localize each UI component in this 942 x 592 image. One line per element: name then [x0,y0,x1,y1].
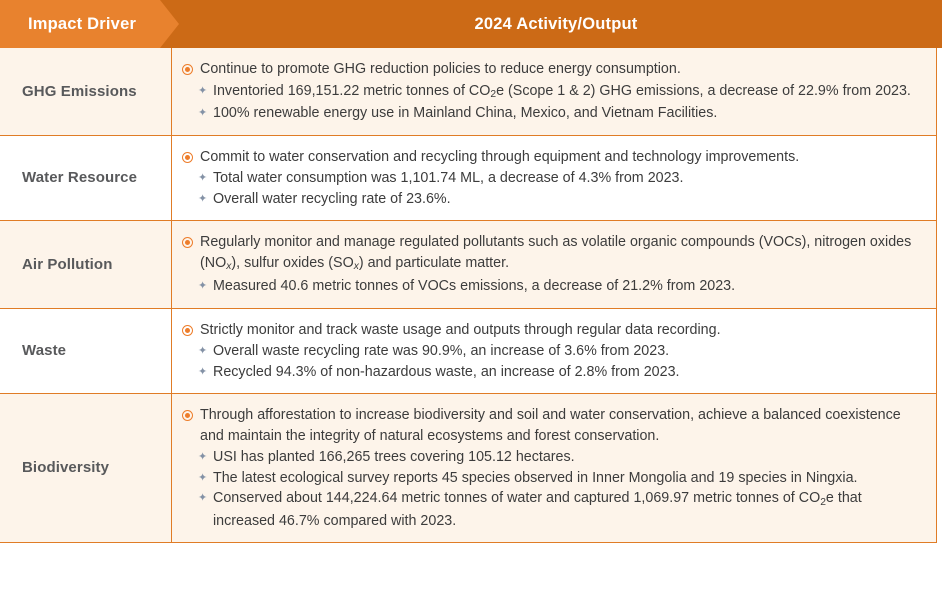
table-row: GHG EmissionsContinue to promote GHG red… [0,48,936,136]
header-label-activity-output: 2024 Activity/Output [465,15,638,34]
cell-impact-driver: Water Resource [0,136,172,221]
main-bullet-text: Regularly monitor and manage regulated p… [200,234,911,271]
orange-ring-bullet-icon [182,325,193,336]
table-row: Air PollutionRegularly monitor and manag… [0,221,936,309]
table-body: GHG EmissionsContinue to promote GHG red… [0,48,937,543]
main-bullet-text: Strictly monitor and track waste usage a… [200,322,721,338]
main-bullet-item: Continue to promote GHG reduction polici… [182,59,922,80]
orange-ring-bullet-icon [182,410,193,421]
four-point-star-bullet-icon: ✦ [198,87,206,95]
cell-impact-driver: Biodiversity [0,394,172,542]
sub-bullet-item: ✦USI has planted 166,265 trees covering … [182,447,922,468]
table-row: BiodiversityThrough afforestation to inc… [0,394,936,542]
four-point-star-bullet-icon: ✦ [198,282,206,290]
four-point-star-bullet-icon: ✦ [198,109,206,117]
sub-bullet-text: USI has planted 166,265 trees covering 1… [213,447,922,468]
sub-bullet-text: Conserved about 144,224.64 metric tonnes… [213,488,922,531]
main-bullet-item: Commit to water conservation and recycli… [182,147,922,168]
impact-driver-label: Water Resource [22,168,137,188]
table-row: Water ResourceCommit to water conservati… [0,136,936,222]
sub-bullet-text: Overall waste recycling rate was 90.9%, … [213,341,922,362]
header-cell-activity-output: 2024 Activity/Output [160,0,942,48]
cell-impact-driver: Air Pollution [0,221,172,308]
sub-bullet-text: Total water consumption was 1,101.74 ML,… [213,168,922,189]
sub-bullet-text: The latest ecological survey reports 45 … [213,468,922,489]
sub-bullet-item: ✦Inventoried 169,151.22 metric tonnes of… [182,81,922,104]
impact-driver-table: Impact Driver 2024 Activity/Output GHG E… [0,0,942,592]
four-point-star-bullet-icon: ✦ [198,368,206,376]
sub-bullet-item: ✦100% renewable energy use in Mainland C… [182,103,922,124]
sub-bullet-item: ✦Recycled 94.3% of non-hazardous waste, … [182,362,922,383]
sub-bullet-item: ✦Total water consumption was 1,101.74 ML… [182,168,922,189]
main-bullet-item: Strictly monitor and track waste usage a… [182,320,922,341]
main-bullet-text: Through afforestation to increase biodiv… [200,407,901,444]
four-point-star-bullet-icon: ✦ [198,195,206,203]
sub-bullet-item: ✦Overall water recycling rate of 23.6%. [182,189,922,210]
impact-driver-label: GHG Emissions [22,82,137,102]
main-bullet-text: Commit to water conservation and recycli… [200,149,799,165]
orange-ring-bullet-icon [182,64,193,75]
orange-ring-bullet-icon [182,152,193,163]
cell-activity-output: Through afforestation to increase biodiv… [172,394,936,542]
cell-activity-output: Regularly monitor and manage regulated p… [172,221,936,308]
header-cell-impact-driver: Impact Driver [0,0,160,48]
table-header-row: Impact Driver 2024 Activity/Output [0,0,942,48]
main-bullet-text: Continue to promote GHG reduction polici… [200,61,681,77]
cell-activity-output: Commit to water conservation and recycli… [172,136,936,221]
table-row: WasteStrictly monitor and track waste us… [0,309,936,395]
cell-impact-driver: GHG Emissions [0,48,172,135]
four-point-star-bullet-icon: ✦ [198,347,206,355]
impact-driver-label: Biodiversity [22,458,109,478]
sub-bullet-item: ✦Overall waste recycling rate was 90.9%,… [182,341,922,362]
sub-bullet-text: Recycled 94.3% of non-hazardous waste, a… [213,362,922,383]
main-bullet-item: Through afforestation to increase biodiv… [182,405,922,446]
sub-bullet-text: Overall water recycling rate of 23.6%. [213,189,922,210]
header-label-impact-driver: Impact Driver [28,15,136,34]
impact-driver-label: Air Pollution [22,255,112,275]
four-point-star-bullet-icon: ✦ [198,174,206,182]
sub-bullet-item: ✦The latest ecological survey reports 45… [182,468,922,489]
main-bullet-item: Regularly monitor and manage regulated p… [182,232,922,275]
orange-ring-bullet-icon [182,237,193,248]
sub-bullet-text: 100% renewable energy use in Mainland Ch… [213,103,922,124]
four-point-star-bullet-icon: ✦ [198,453,206,461]
sub-bullet-item: ✦Measured 40.6 metric tonnes of VOCs emi… [182,276,922,297]
cell-activity-output: Strictly monitor and track waste usage a… [172,309,936,394]
sub-bullet-item: ✦Conserved about 144,224.64 metric tonne… [182,488,922,531]
four-point-star-bullet-icon: ✦ [198,494,206,502]
impact-driver-label: Waste [22,341,66,361]
cell-activity-output: Continue to promote GHG reduction polici… [172,48,936,135]
cell-impact-driver: Waste [0,309,172,394]
sub-bullet-text: Measured 40.6 metric tonnes of VOCs emis… [213,276,922,297]
four-point-star-bullet-icon: ✦ [198,474,206,482]
sub-bullet-text: Inventoried 169,151.22 metric tonnes of … [213,81,922,104]
